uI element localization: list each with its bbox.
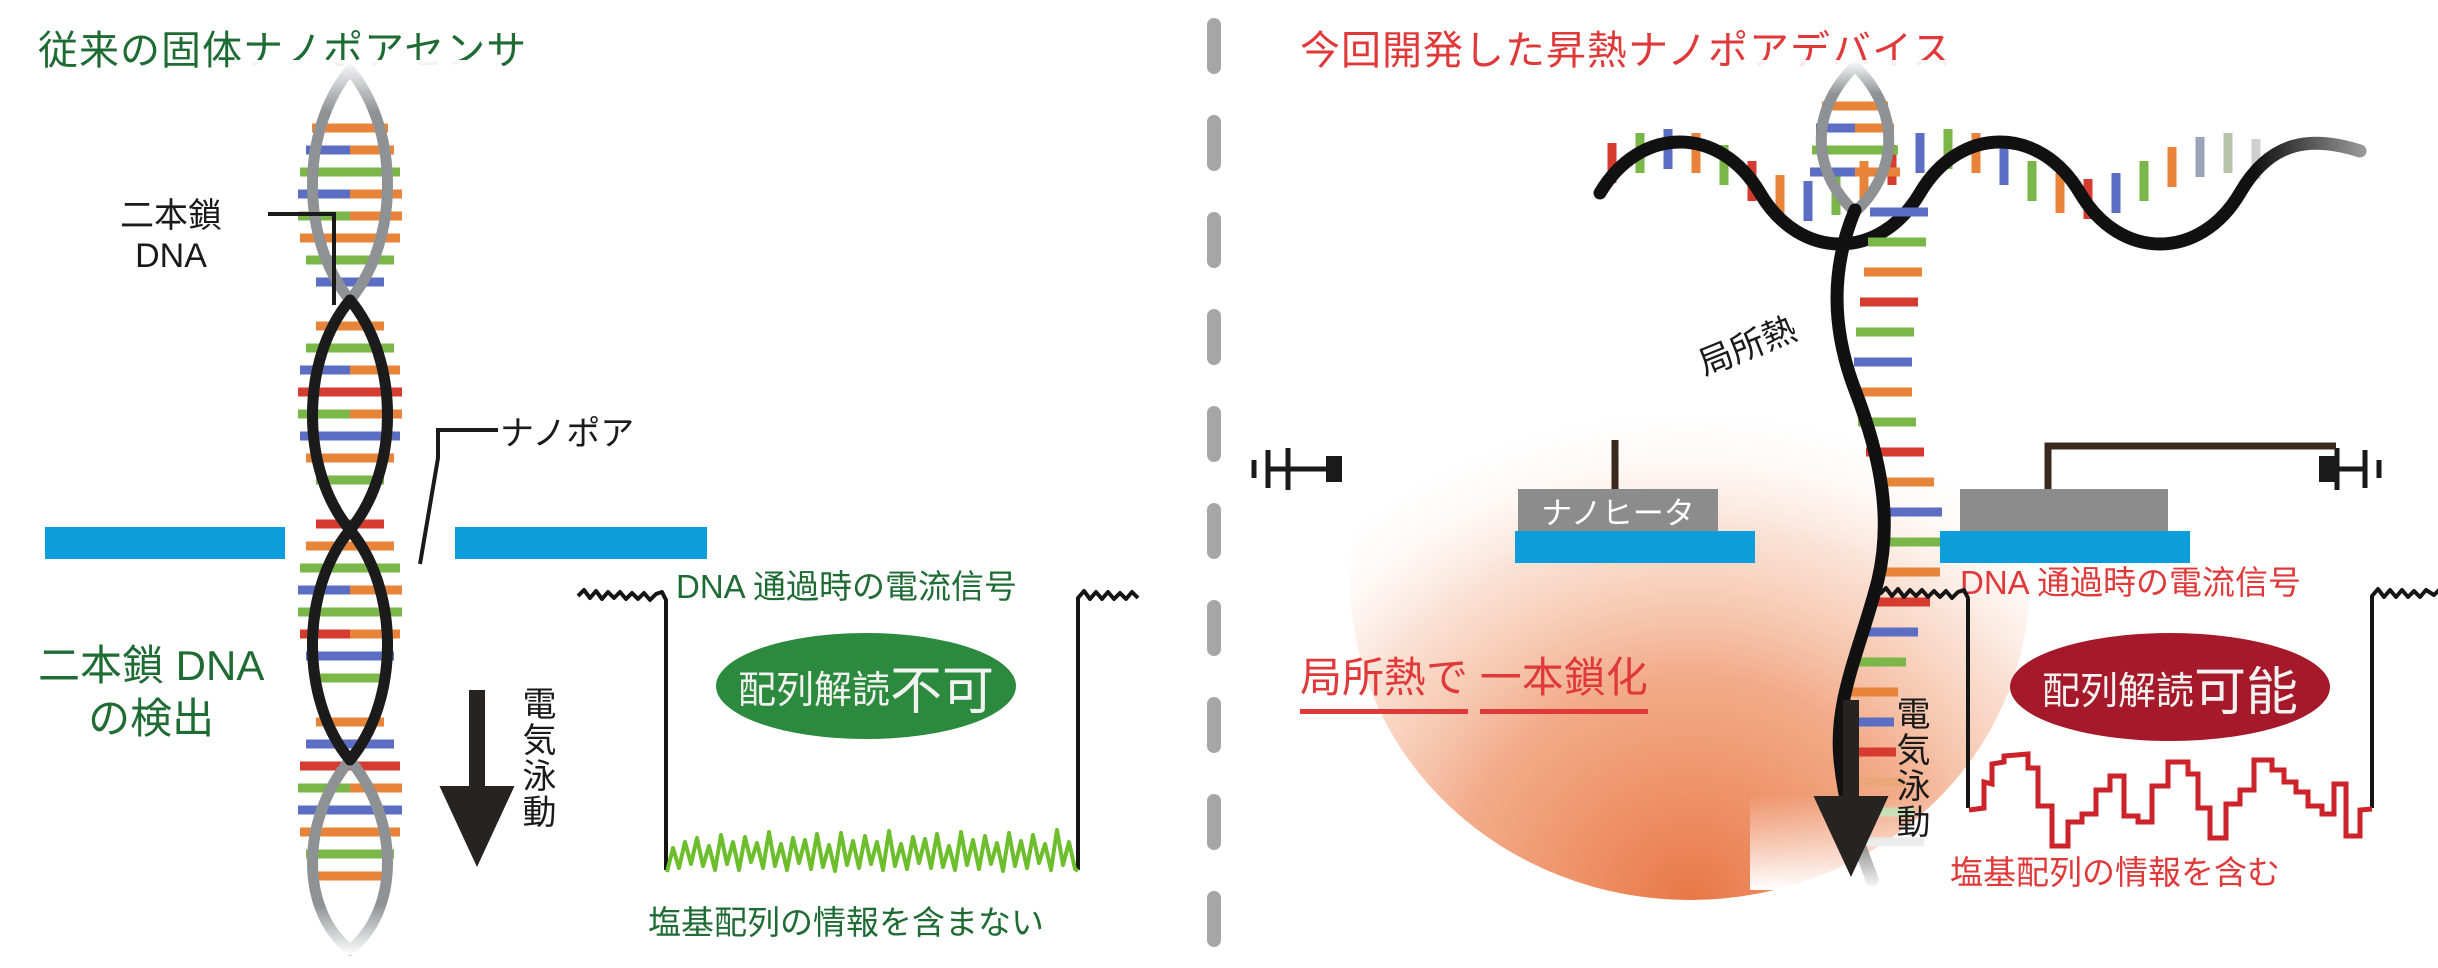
right-badge-text-big: 可能 <box>2194 650 2298 725</box>
right-result-badge: 配列解読 可能 <box>2010 633 2330 741</box>
ssdna-conversion-text: 局所熱で 一本鎖化 <box>1300 638 1648 714</box>
membrane-right <box>455 527 707 559</box>
nanoheater-right <box>1960 489 2168 531</box>
left-badge-text-big: 不可 <box>890 649 994 724</box>
electrophoresis-arrow-icon <box>448 690 506 850</box>
dsdna-label-line2: DNA <box>120 236 222 276</box>
detection-line2: の検出 <box>38 693 264 746</box>
right-signal-caption: 塩基配列の情報を含む <box>1950 846 2280 894</box>
dsdna-label-line1: 二本鎖 <box>120 196 222 236</box>
ssdna-line1: 局所熱で <box>1300 650 1468 714</box>
conventional-nanopore-panel: 二本鎖 DNA ナノポア 二本鎖 DNA の検出 電気泳動 DNA 通過時の電流… <box>0 0 1210 968</box>
left-heater-wire <box>1342 442 1422 532</box>
electrophoresis-arrow-icon-right <box>1822 700 1880 860</box>
ssdna-line2: 一本鎖化 <box>1480 650 1648 714</box>
dsdna-leader-line <box>268 200 378 310</box>
membrane-left-right-panel <box>1515 531 1755 563</box>
left-badge-text-small: 配列解読 <box>738 659 890 714</box>
nanoheater-left: ナノヒータ <box>1518 489 1718 531</box>
electrophoresis-label: 電気泳動 <box>512 686 561 830</box>
nanoheater-label: ナノヒータ <box>1541 488 1694 533</box>
heated-nanopore-panel: 局所熱 <box>1260 0 2438 968</box>
dsdna-label: 二本鎖 DNA <box>120 196 222 276</box>
detection-line1: 二本鎖 DNA <box>38 640 264 693</box>
left-signal-caption: 塩基配列の情報を含まない <box>648 896 1044 944</box>
left-result-badge: 配列解読 不可 <box>716 633 1016 739</box>
detection-text: 二本鎖 DNA の検出 <box>38 640 264 745</box>
right-badge-text-small: 配列解読 <box>2042 660 2194 715</box>
membrane-left <box>45 527 285 559</box>
